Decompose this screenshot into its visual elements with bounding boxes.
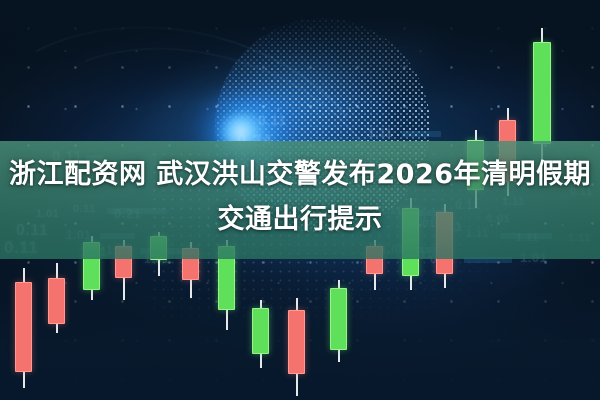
headline: 浙江配资网 武汉洪山交警发布2026年清明假期 交通出行提示 bbox=[0, 152, 600, 242]
candle-body bbox=[330, 288, 347, 350]
candlestick bbox=[15, 268, 32, 388]
candle-body bbox=[15, 282, 32, 372]
candlestick bbox=[330, 280, 347, 362]
candle-body bbox=[252, 308, 269, 354]
headline-line-1: 浙江配资网 武汉洪山交警发布2026年清明假期 bbox=[0, 152, 600, 197]
data-bar bbox=[402, 131, 441, 137]
price-label: 1.11 bbox=[368, 126, 393, 140]
candlestick bbox=[252, 300, 269, 368]
candlestick bbox=[48, 263, 65, 333]
price-label: 0.11 bbox=[258, 112, 286, 128]
candle-body bbox=[48, 278, 65, 324]
headline-line-2: 交通出行提示 bbox=[0, 197, 600, 242]
candle-body bbox=[533, 42, 551, 144]
banner-image: 0.110.240.111.113.111.010.110.110.111.01… bbox=[0, 0, 600, 400]
candlestick bbox=[288, 298, 305, 396]
candle-body bbox=[288, 310, 305, 374]
